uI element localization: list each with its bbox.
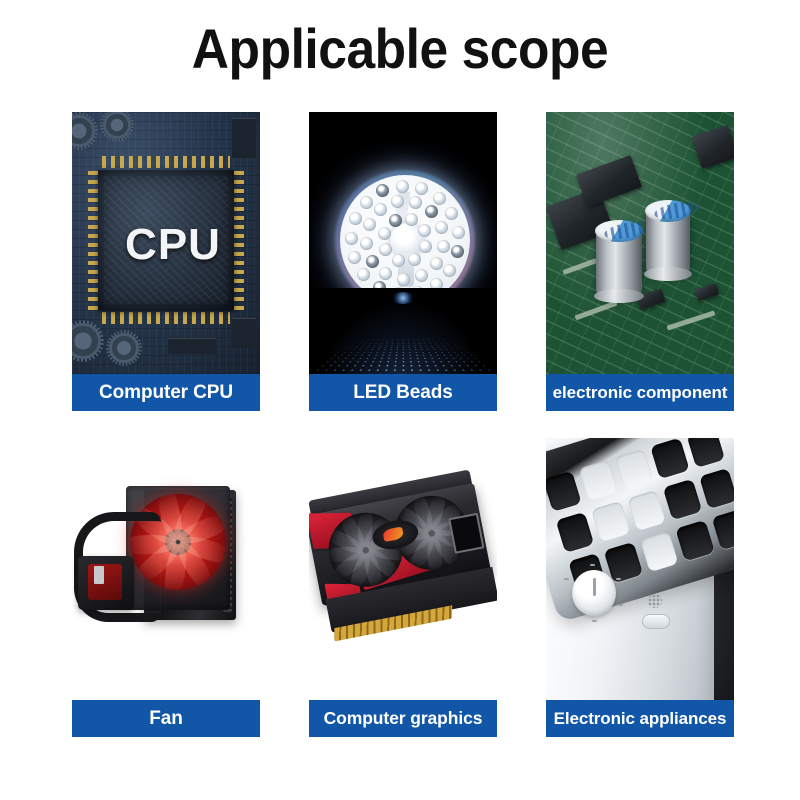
scope-grid: CPU Computer CPU LED Beads [72,112,734,737]
scope-label-electronic-component: electronic component [546,374,734,411]
scope-card-computer-cpu[interactable]: CPU Computer CPU [72,112,260,411]
cpu-circuit-board-photo: CPU [72,112,260,374]
scope-label-fan: Fan [72,700,260,737]
toaster-dial-knob [572,570,616,616]
scope-card-electronic-component[interactable]: electronic component [546,112,734,411]
scope-label-computer-cpu: Computer CPU [72,374,260,411]
cpu-chip-label: CPU [105,220,241,270]
scope-label-computer-graphics: Computer graphics [309,700,497,737]
toaster-appliance-photo [546,438,734,700]
toaster-button [642,614,670,629]
pcb-capacitors-photo [546,112,734,374]
page-title: Applicable scope [32,18,768,80]
scope-card-led-beads[interactable]: LED Beads [309,112,497,411]
cpu-liquid-cooler-fan-photo [72,438,260,700]
scope-card-computer-graphics[interactable]: Computer graphics [309,438,497,737]
scope-card-electronic-appliances[interactable]: Electronic appliances [546,438,734,737]
led-bead-module-photo [309,112,497,374]
scope-card-fan[interactable]: Fan [72,438,260,737]
graphics-card-photo [309,438,497,700]
toaster-dots-icon [648,594,662,608]
scope-label-electronic-appliances: Electronic appliances [546,700,734,737]
applicable-scope-page: Applicable scope CPU Computer CPU [0,0,800,800]
scope-label-led-beads: LED Beads [309,374,497,411]
